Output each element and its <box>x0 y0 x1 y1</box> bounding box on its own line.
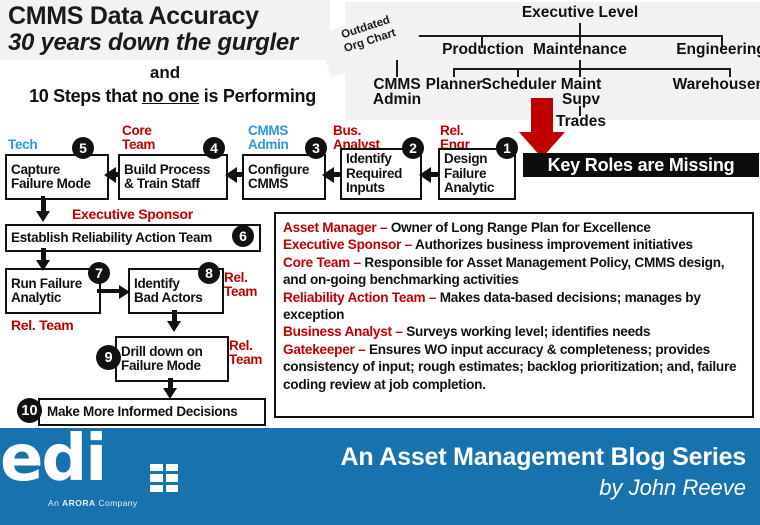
flow-arrow-2-to-3 <box>322 167 341 183</box>
key-roles-missing-banner: Key Roles are Missing <box>523 153 759 177</box>
edi-logo-wordmark: edi <box>0 428 105 490</box>
legend-role-name: Core Team <box>283 255 350 270</box>
flow-step-3-box[interactable]: Configure CMMS <box>242 154 326 200</box>
title-connector: and <box>0 63 330 83</box>
flow-step-7-box[interactable]: Run Failure Analytic <box>5 268 101 314</box>
role-caption-core-team-l2: Team <box>122 138 155 152</box>
flow-step-7-label: Run Failure Analytic <box>7 277 84 306</box>
step-number-8: 8 <box>198 262 220 284</box>
legend-role-name: Asset Manager <box>283 220 376 235</box>
role-caption-rel-team-step9-l1: Rel. <box>229 339 253 353</box>
red-down-arrow-icon <box>519 98 565 158</box>
legend-dash: – <box>376 220 390 235</box>
edi-logo-grid-icon <box>150 464 178 492</box>
org-node-production: Production <box>431 42 535 57</box>
flow-arrow-7-to-8 <box>97 285 130 299</box>
subtitle-underlined: no one <box>142 86 199 106</box>
legend-dash: – <box>392 324 406 339</box>
flow-step-2-label-l1: Identify <box>346 151 392 166</box>
legend-entry: Asset Manager – Owner of Long Range Plan… <box>283 219 746 236</box>
legend-role-desc: Surveys working level; identifies needs <box>406 324 650 339</box>
org-connector <box>453 68 731 70</box>
flow-step-8-label-l2: Bad Actors <box>134 290 203 305</box>
legend-role-name: Gatekeeper <box>283 342 355 357</box>
role-caption-cmms-admin-l1: CMMS <box>248 124 288 138</box>
tagline-post: Company <box>96 498 138 508</box>
flow-arrow-8-to-9 <box>167 310 182 334</box>
step-number-1: 1 <box>496 137 518 159</box>
role-caption-rel-engr-l1: Rel. <box>440 124 464 138</box>
role-caption-rel-team-step8-l1: Rel. <box>224 271 248 285</box>
flow-step-2-label-l2: Required <box>346 166 402 181</box>
flow-step-4-label: Build Process & Train Staff <box>120 163 212 192</box>
flow-step-5-box[interactable]: Capture Failure Mode <box>5 154 109 200</box>
role-caption-rel-team-step8-l2: Team <box>224 285 257 299</box>
org-node-engineering: Engineering <box>660 42 760 57</box>
flow-step-3-label-l2: CMMS <box>248 176 288 191</box>
legend-role-name: Executive Sponsor <box>283 237 401 252</box>
org-connector <box>579 23 581 35</box>
flow-step-9-label-l2: Failure Mode <box>121 358 201 373</box>
edi-logo[interactable]: edi An ARORA Company <box>0 428 240 508</box>
flow-arrow-3-to-4 <box>225 167 243 183</box>
org-node-scheduler: Scheduler <box>476 77 562 92</box>
roles-legend-panel: Asset Manager – Owner of Long Range Plan… <box>274 212 754 418</box>
footer-title: An Asset Management Blog Series <box>336 443 746 472</box>
step-number-4: 4 <box>203 137 225 159</box>
legend-dash: – <box>350 255 364 270</box>
flow-step-9-box[interactable]: Drill down on Failure Mode <box>115 336 229 382</box>
flow-arrow-9-to-10 <box>163 378 178 400</box>
legend-role-name: Business Analyst <box>283 324 392 339</box>
subtitle-pre: 10 Steps that <box>29 86 142 106</box>
step-number-6: 6 <box>232 225 254 247</box>
step-number-5: 5 <box>72 137 94 159</box>
legend-dash: – <box>401 237 415 252</box>
legend-role-name: Reliability Action Team <box>283 290 425 305</box>
flow-step-2-label: Identify Required Inputs <box>342 152 404 196</box>
org-node-executive-level: Executive Level <box>515 5 645 20</box>
flow-step-10-label: Make More Informed Decisions <box>40 405 239 420</box>
flow-arrow-1-to-2 <box>419 167 438 183</box>
flow-step-3-label: Configure CMMS <box>244 163 311 192</box>
flow-step-1-label-l2: Failure <box>444 166 486 181</box>
legend-role-desc: Owner of Long Range Plan for Excellence <box>391 220 651 235</box>
flow-step-7-label-l2: Analytic <box>11 290 61 305</box>
org-connector <box>396 60 398 77</box>
legend-entry: Reliability Action Team – Makes data-bas… <box>283 289 746 324</box>
flow-step-5-label-l1: Capture <box>11 162 60 177</box>
org-node-maintenance: Maintenance <box>521 42 639 57</box>
flow-step-5-label: Capture Failure Mode <box>7 163 93 192</box>
flow-step-1-label-l3: Analytic <box>444 180 494 195</box>
flow-step-1-label: Design Failure Analytic <box>440 152 496 196</box>
flow-step-4-box[interactable]: Build Process & Train Staff <box>118 154 228 200</box>
legend-role-desc: Authorizes business improvement initiati… <box>415 237 693 252</box>
org-connector <box>396 35 723 37</box>
role-caption-cmms-admin-l2: Admin <box>248 138 289 152</box>
role-caption-rel-team-step9-l2: Team <box>229 353 262 367</box>
flow-step-4-label-l1: Build Process <box>124 162 210 177</box>
step-number-9: 9 <box>96 345 121 370</box>
tagline-pre: An <box>48 498 62 508</box>
page-title-line2: 30 years down the gurgler <box>8 29 298 57</box>
flow-arrow-5-to-6 <box>36 198 51 222</box>
flow-step-3-label-l1: Configure <box>248 162 309 177</box>
legend-dash: – <box>355 342 369 357</box>
flow-step-8-label-l1: Identify <box>134 276 180 291</box>
flow-step-2-label-l3: Inputs <box>346 180 385 195</box>
role-caption-tech: Tech <box>8 138 37 152</box>
role-caption-core-team-l1: Core <box>122 124 152 138</box>
legend-entry: Core Team – Responsible for Asset Manage… <box>283 254 746 289</box>
legend-entry: Executive Sponsor – Authorizes business … <box>283 236 746 253</box>
tagline-brand: ARORA <box>62 498 96 508</box>
flow-step-8-label: Identify Bad Actors <box>130 277 205 306</box>
flow-step-9-label-l1: Drill down on <box>121 344 203 359</box>
role-caption-executive-sponsor: Executive Sponsor <box>72 207 193 221</box>
step-number-3: 3 <box>305 137 327 159</box>
footer-author: by John Reeve <box>336 475 746 501</box>
org-node-cmms-admin-line2: Admin <box>373 91 421 108</box>
page-title-line1: CMMS Data Accuracy <box>8 2 259 31</box>
flow-step-1-label-l1: Design <box>444 151 487 166</box>
edi-logo-tagline: An ARORA Company <box>48 498 138 508</box>
flow-step-4-label-l2: & Train Staff <box>124 176 200 191</box>
legend-dash: – <box>425 290 439 305</box>
step-number-7: 7 <box>88 262 110 284</box>
step-number-2: 2 <box>402 137 424 159</box>
role-caption-rel-team-step7: Rel. Team <box>11 318 73 332</box>
step-number-10: 10 <box>17 398 42 423</box>
legend-entry: Gatekeeper – Ensures WO input accuracy &… <box>283 341 746 393</box>
flow-step-6-label: Establish Reliability Action Team <box>7 231 214 246</box>
flow-arrow-6-to-7 <box>36 248 51 272</box>
flow-step-7-label-l1: Run Failure <box>11 276 82 291</box>
legend-entry: Business Analyst – Surveys working level… <box>283 323 746 340</box>
flow-arrow-4-to-5 <box>104 167 120 183</box>
org-node-warehouseman: Warehouseman <box>667 77 760 92</box>
subtitle-post: is Performing <box>199 86 316 106</box>
org-node-maint-supv-line2: Supv <box>562 91 600 108</box>
org-connector <box>579 60 581 68</box>
flow-step-9-label: Drill down on Failure Mode <box>117 345 205 374</box>
role-caption-bus-analyst-l1: Bus. <box>333 124 361 138</box>
flow-step-5-label-l2: Failure Mode <box>11 176 91 191</box>
page-subtitle: 10 Steps that no one is Performing <box>0 86 345 107</box>
